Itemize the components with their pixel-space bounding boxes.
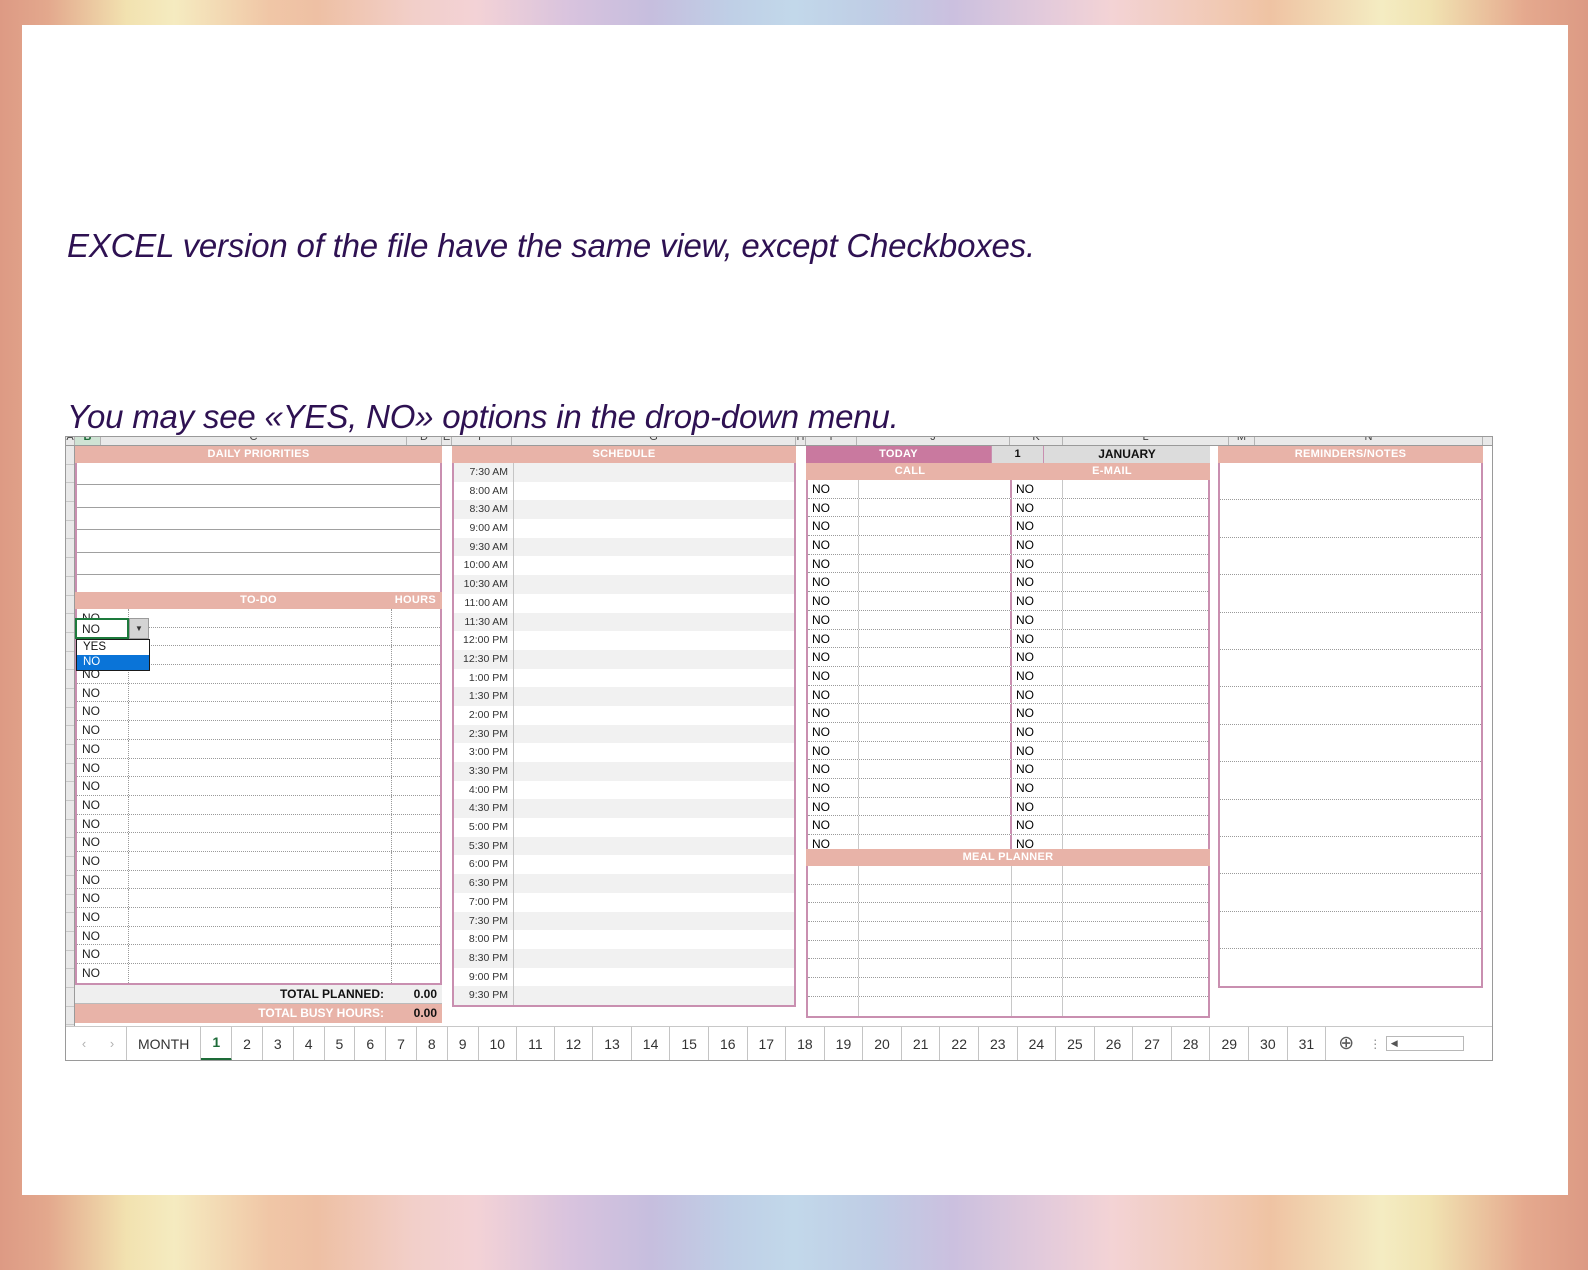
column-header-h[interactable]: H: [796, 437, 806, 445]
meal-planner-cell[interactable]: [808, 959, 859, 977]
todo-checkbox-cell[interactable]: NO: [77, 908, 129, 926]
schedule-entry-cell[interactable]: [514, 463, 794, 482]
today-month[interactable]: JANUARY: [1044, 446, 1210, 463]
meal-planner-cell[interactable]: [808, 903, 859, 921]
meal-planner-cell[interactable]: [808, 922, 859, 940]
todo-row[interactable]: NO: [77, 777, 440, 796]
row-header[interactable]: [66, 745, 74, 764]
schedule-entry-cell[interactable]: [514, 874, 794, 893]
call-email-row[interactable]: NONO: [808, 742, 1208, 761]
daily-priority-row[interactable]: [77, 508, 440, 530]
todo-row[interactable]: NO: [77, 889, 440, 908]
sheet-tab-11[interactable]: 11: [517, 1027, 555, 1061]
todo-hours-cell[interactable]: [392, 945, 440, 963]
schedule-row[interactable]: 12:00 PM: [454, 631, 794, 650]
email-checkbox-cell[interactable]: NO: [1012, 779, 1063, 797]
schedule-row[interactable]: 3:00 PM: [454, 743, 794, 762]
call-text-cell[interactable]: [859, 816, 1012, 834]
todo-checkbox-cell[interactable]: NO: [77, 702, 129, 720]
call-checkbox-cell[interactable]: NO: [808, 536, 859, 554]
scroll-left-icon[interactable]: ◀: [1387, 1038, 1401, 1049]
sheet-tab-24[interactable]: 24: [1018, 1027, 1057, 1061]
row-header[interactable]: [66, 652, 74, 671]
schedule-row[interactable]: 9:00 AM: [454, 519, 794, 538]
call-checkbox-cell[interactable]: NO: [808, 798, 859, 816]
email-checkbox-cell[interactable]: NO: [1012, 686, 1063, 704]
todo-hours-cell[interactable]: [392, 665, 440, 683]
todo-checkbox-cell[interactable]: NO: [77, 740, 129, 758]
todo-row[interactable]: NO: [77, 964, 440, 983]
sheet-tab-27[interactable]: 27: [1133, 1027, 1172, 1061]
sheet-tab-8[interactable]: 8: [417, 1027, 448, 1061]
call-text-cell[interactable]: [859, 667, 1012, 685]
schedule-entry-cell[interactable]: [514, 594, 794, 613]
todo-checkbox-cell[interactable]: NO: [77, 889, 129, 907]
meal-planner-cell[interactable]: [1012, 922, 1063, 940]
meal-planner-row[interactable]: [808, 903, 1208, 922]
schedule-row[interactable]: 1:30 PM: [454, 687, 794, 706]
sheet-tab-31[interactable]: 31: [1288, 1027, 1327, 1061]
row-header[interactable]: [66, 764, 74, 783]
email-checkbox-cell[interactable]: NO: [1012, 480, 1063, 498]
row-header[interactable]: [66, 483, 74, 502]
reminder-row[interactable]: [1220, 837, 1481, 874]
schedule-entry-cell[interactable]: [514, 912, 794, 931]
call-text-cell[interactable]: [859, 573, 1012, 591]
daily-priority-row[interactable]: [77, 485, 440, 507]
call-email-row[interactable]: NONO: [808, 816, 1208, 835]
todo-hours-cell[interactable]: [392, 702, 440, 720]
todo-task-cell[interactable]: [129, 964, 392, 983]
schedule-rows[interactable]: 7:30 AM8:00 AM8:30 AM9:00 AM9:30 AM10:00…: [452, 463, 796, 1007]
meal-planner-cell[interactable]: [1063, 885, 1208, 903]
call-text-cell[interactable]: [859, 592, 1012, 610]
schedule-row[interactable]: 2:30 PM: [454, 725, 794, 744]
todo-task-cell[interactable]: [129, 702, 392, 720]
meal-planner-cell[interactable]: [859, 922, 1012, 940]
schedule-entry-cell[interactable]: [514, 949, 794, 968]
todo-task-cell[interactable]: [129, 927, 392, 945]
todo-hours-cell[interactable]: [392, 927, 440, 945]
row-header[interactable]: [66, 596, 74, 615]
reminder-row[interactable]: [1220, 949, 1481, 986]
column-header-g[interactable]: G: [512, 437, 796, 445]
meal-planner-cell[interactable]: [1063, 903, 1208, 921]
sheet-tab-28[interactable]: 28: [1172, 1027, 1211, 1061]
todo-checkbox-cell[interactable]: NO: [77, 721, 129, 739]
call-text-cell[interactable]: [859, 630, 1012, 648]
meal-planner-row[interactable]: [808, 922, 1208, 941]
meal-planner-cell[interactable]: [1063, 866, 1208, 884]
email-checkbox-cell[interactable]: NO: [1012, 760, 1063, 778]
column-header-k[interactable]: K: [1010, 437, 1063, 445]
schedule-entry-cell[interactable]: [514, 968, 794, 987]
todo-hours-cell[interactable]: [392, 628, 440, 646]
schedule-row[interactable]: 6:30 PM: [454, 874, 794, 893]
row-header[interactable]: [66, 857, 74, 876]
sheet-tab-25[interactable]: 25: [1056, 1027, 1095, 1061]
sheet-tab-13[interactable]: 13: [593, 1027, 632, 1061]
schedule-row[interactable]: 5:30 PM: [454, 837, 794, 856]
row-header[interactable]: [66, 465, 74, 484]
meal-planner-row[interactable]: [808, 959, 1208, 978]
sheet-tab-3[interactable]: 3: [263, 1027, 294, 1061]
meal-planner-row[interactable]: [808, 941, 1208, 960]
meal-planner-cell[interactable]: [808, 885, 859, 903]
row-header[interactable]: [66, 446, 74, 465]
row-header[interactable]: [66, 838, 74, 857]
reminder-row[interactable]: [1220, 725, 1481, 762]
reminder-row[interactable]: [1220, 538, 1481, 575]
sheet-tab-14[interactable]: 14: [632, 1027, 671, 1061]
todo-row[interactable]: NO: [77, 945, 440, 964]
todo-checkbox-cell[interactable]: NO: [77, 852, 129, 870]
email-checkbox-cell[interactable]: NO: [1012, 592, 1063, 610]
todo-hours-cell[interactable]: [392, 721, 440, 739]
schedule-row[interactable]: 11:00 AM: [454, 594, 794, 613]
meal-planner-cell[interactable]: [859, 959, 1012, 977]
reminder-row[interactable]: [1220, 500, 1481, 537]
schedule-entry-cell[interactable]: [514, 650, 794, 669]
column-header-row[interactable]: ABCDEFGHIJKLMN: [66, 437, 1492, 446]
column-header-i[interactable]: I: [806, 437, 857, 445]
sheet-tab-4[interactable]: 4: [294, 1027, 325, 1061]
todo-task-cell[interactable]: [129, 908, 392, 926]
call-checkbox-cell[interactable]: NO: [808, 592, 859, 610]
schedule-entry-cell[interactable]: [514, 482, 794, 501]
schedule-row[interactable]: 8:30 AM: [454, 500, 794, 519]
todo-task-cell[interactable]: [129, 777, 392, 795]
sheet-tab-5[interactable]: 5: [325, 1027, 356, 1061]
sheet-tab-2[interactable]: 2: [232, 1027, 263, 1061]
call-text-cell[interactable]: [859, 723, 1012, 741]
row-header[interactable]: [66, 801, 74, 820]
meal-planner-cell[interactable]: [808, 941, 859, 959]
schedule-entry-cell[interactable]: [514, 613, 794, 632]
reminder-row[interactable]: [1220, 613, 1481, 650]
call-checkbox-cell[interactable]: NO: [808, 723, 859, 741]
schedule-entry-cell[interactable]: [514, 575, 794, 594]
call-email-row[interactable]: NONO: [808, 611, 1208, 630]
dropdown-option-no[interactable]: NO: [77, 655, 149, 670]
call-text-cell[interactable]: [859, 611, 1012, 629]
reminders-rows[interactable]: [1218, 463, 1483, 988]
scrollbar-thumb[interactable]: [1401, 1037, 1463, 1050]
todo-checkbox-cell[interactable]: NO: [77, 964, 129, 983]
sheet-tab-10[interactable]: 10: [479, 1027, 518, 1061]
row-header[interactable]: [66, 951, 74, 970]
meal-planner-cell[interactable]: [808, 997, 859, 1016]
sheet-tab-21[interactable]: 21: [902, 1027, 941, 1061]
todo-task-cell[interactable]: [129, 852, 392, 870]
next-sheet-icon[interactable]: ›: [110, 1036, 114, 1051]
email-checkbox-cell[interactable]: NO: [1012, 517, 1063, 535]
row-header[interactable]: [66, 689, 74, 708]
schedule-entry-cell[interactable]: [514, 781, 794, 800]
call-email-row[interactable]: NONO: [808, 592, 1208, 611]
daily-priorities-rows[interactable]: [75, 463, 442, 599]
todo-checkbox-cell[interactable]: NO: [77, 871, 129, 889]
email-checkbox-cell[interactable]: NO: [1012, 611, 1063, 629]
call-email-row[interactable]: NONO: [808, 555, 1208, 574]
todo-task-cell[interactable]: [129, 815, 392, 833]
row-header[interactable]: [66, 633, 74, 652]
column-header-d[interactable]: D: [407, 437, 442, 445]
reminder-row[interactable]: [1220, 463, 1481, 500]
call-checkbox-cell[interactable]: NO: [808, 611, 859, 629]
schedule-row[interactable]: 8:30 PM: [454, 949, 794, 968]
call-email-row[interactable]: NONO: [808, 760, 1208, 779]
meal-planner-cell[interactable]: [859, 903, 1012, 921]
schedule-row[interactable]: 1:00 PM: [454, 669, 794, 688]
todo-task-cell[interactable]: [129, 721, 392, 739]
meal-planner-cell[interactable]: [859, 978, 1012, 996]
meal-planner-cell[interactable]: [1012, 885, 1063, 903]
reminder-row[interactable]: [1220, 650, 1481, 687]
call-text-cell[interactable]: [859, 779, 1012, 797]
email-checkbox-cell[interactable]: NO: [1012, 536, 1063, 554]
email-checkbox-cell[interactable]: NO: [1012, 816, 1063, 834]
call-checkbox-cell[interactable]: NO: [808, 779, 859, 797]
todo-checkbox-cell[interactable]: NO: [77, 759, 129, 777]
todo-task-cell[interactable]: [129, 646, 392, 664]
schedule-entry-cell[interactable]: [514, 837, 794, 856]
todo-task-cell[interactable]: [129, 684, 392, 702]
email-checkbox-cell[interactable]: NO: [1012, 499, 1063, 517]
schedule-entry-cell[interactable]: [514, 893, 794, 912]
todo-task-cell[interactable]: [129, 871, 392, 889]
row-header[interactable]: [66, 670, 74, 689]
todo-row[interactable]: NO: [77, 815, 440, 834]
horizontal-scrollbar[interactable]: ◀: [1386, 1036, 1464, 1051]
schedule-entry-cell[interactable]: [514, 986, 794, 1005]
sheet-tab-7[interactable]: 7: [386, 1027, 417, 1061]
email-checkbox-cell[interactable]: NO: [1012, 742, 1063, 760]
todo-hours-cell[interactable]: [392, 889, 440, 907]
sheet-tab-30[interactable]: 30: [1249, 1027, 1288, 1061]
todo-task-cell[interactable]: [129, 945, 392, 963]
row-header[interactable]: [66, 988, 74, 1007]
todo-hours-cell[interactable]: [392, 964, 440, 983]
schedule-entry-cell[interactable]: [514, 519, 794, 538]
more-options-icon[interactable]: ⋮: [1366, 1037, 1384, 1051]
row-header[interactable]: [66, 539, 74, 558]
reminder-row[interactable]: [1220, 912, 1481, 949]
todo-checkbox-cell[interactable]: NO: [77, 796, 129, 814]
meal-planner-cell[interactable]: [1012, 959, 1063, 977]
schedule-row[interactable]: 9:30 PM: [454, 986, 794, 1005]
call-checkbox-cell[interactable]: NO: [808, 648, 859, 666]
today-day-number[interactable]: 1: [991, 446, 1044, 463]
email-text-cell[interactable]: [1063, 742, 1208, 760]
meal-planner-row[interactable]: [808, 866, 1208, 885]
meal-planner-cell[interactable]: [1063, 978, 1208, 996]
sheet-tab-12[interactable]: 12: [555, 1027, 594, 1061]
call-email-row[interactable]: NONO: [808, 704, 1208, 723]
email-text-cell[interactable]: [1063, 667, 1208, 685]
call-checkbox-cell[interactable]: NO: [808, 816, 859, 834]
sheet-tab-26[interactable]: 26: [1095, 1027, 1134, 1061]
add-sheet-icon[interactable]: ⊕: [1326, 1032, 1366, 1055]
reminder-row[interactable]: [1220, 762, 1481, 799]
schedule-row[interactable]: 8:00 AM: [454, 482, 794, 501]
email-checkbox-cell[interactable]: NO: [1012, 555, 1063, 573]
schedule-row[interactable]: 10:00 AM: [454, 556, 794, 575]
todo-checkbox-cell-selected[interactable]: NO: [75, 618, 129, 639]
meal-planner-cell[interactable]: [859, 885, 1012, 903]
column-header-m[interactable]: M: [1229, 437, 1255, 445]
email-text-cell[interactable]: [1063, 536, 1208, 554]
call-email-row[interactable]: NONO: [808, 686, 1208, 705]
email-text-cell[interactable]: [1063, 480, 1208, 498]
call-text-cell[interactable]: [859, 760, 1012, 778]
todo-hours-cell[interactable]: [392, 646, 440, 664]
schedule-row[interactable]: 4:00 PM: [454, 781, 794, 800]
call-text-cell[interactable]: [859, 742, 1012, 760]
call-checkbox-cell[interactable]: NO: [808, 742, 859, 760]
call-text-cell[interactable]: [859, 517, 1012, 535]
row-header[interactable]: [66, 913, 74, 932]
meal-planner-cell[interactable]: [859, 866, 1012, 884]
schedule-row[interactable]: 7:00 PM: [454, 893, 794, 912]
todo-hours-cell[interactable]: [392, 908, 440, 926]
row-header[interactable]: [66, 577, 74, 596]
email-text-cell[interactable]: [1063, 704, 1208, 722]
email-text-cell[interactable]: [1063, 779, 1208, 797]
column-header-j[interactable]: J: [857, 437, 1010, 445]
todo-checkbox-cell[interactable]: NO: [77, 684, 129, 702]
email-text-cell[interactable]: [1063, 686, 1208, 704]
email-checkbox-cell[interactable]: NO: [1012, 704, 1063, 722]
call-checkbox-cell[interactable]: NO: [808, 704, 859, 722]
schedule-entry-cell[interactable]: [514, 556, 794, 575]
call-text-cell[interactable]: [859, 648, 1012, 666]
sheet-tab-23[interactable]: 23: [979, 1027, 1018, 1061]
email-checkbox-cell[interactable]: NO: [1012, 630, 1063, 648]
email-checkbox-cell[interactable]: NO: [1012, 723, 1063, 741]
meal-planner-cell[interactable]: [1063, 941, 1208, 959]
column-header-l[interactable]: L: [1063, 437, 1229, 445]
todo-row[interactable]: NO: [77, 740, 440, 759]
email-checkbox-cell[interactable]: NO: [1012, 667, 1063, 685]
schedule-row[interactable]: 9:30 AM: [454, 538, 794, 557]
column-header-f[interactable]: F: [452, 437, 512, 445]
call-checkbox-cell[interactable]: NO: [808, 499, 859, 517]
meal-planner-cell[interactable]: [859, 997, 1012, 1016]
call-checkbox-cell[interactable]: NO: [808, 667, 859, 685]
meal-planner-cell[interactable]: [1012, 941, 1063, 959]
meal-planner-rows[interactable]: [806, 866, 1210, 1018]
sheet-tab-6[interactable]: 6: [355, 1027, 386, 1061]
schedule-entry-cell[interactable]: [514, 500, 794, 519]
meal-planner-cell[interactable]: [808, 866, 859, 884]
todo-hours-cell[interactable]: [392, 833, 440, 851]
call-email-row[interactable]: NONO: [808, 536, 1208, 555]
email-text-cell[interactable]: [1063, 611, 1208, 629]
call-checkbox-cell[interactable]: NO: [808, 630, 859, 648]
meal-planner-row[interactable]: [808, 978, 1208, 997]
daily-priority-row[interactable]: [77, 553, 440, 575]
reminder-row[interactable]: [1220, 874, 1481, 911]
todo-task-cell[interactable]: [129, 889, 392, 907]
call-text-cell[interactable]: [859, 499, 1012, 517]
reminder-row[interactable]: [1220, 575, 1481, 612]
meal-planner-cell[interactable]: [1012, 978, 1063, 996]
schedule-entry-cell[interactable]: [514, 743, 794, 762]
schedule-entry-cell[interactable]: [514, 669, 794, 688]
row-header[interactable]: [66, 502, 74, 521]
email-checkbox-cell[interactable]: NO: [1012, 648, 1063, 666]
schedule-row[interactable]: 8:00 PM: [454, 930, 794, 949]
call-checkbox-cell[interactable]: NO: [808, 573, 859, 591]
schedule-entry-cell[interactable]: [514, 706, 794, 725]
call-checkbox-cell[interactable]: NO: [808, 686, 859, 704]
row-header[interactable]: [66, 895, 74, 914]
dropdown-option-list[interactable]: YESNO: [76, 639, 150, 671]
dropdown-option-yes[interactable]: YES: [77, 640, 149, 655]
call-email-row[interactable]: NONO: [808, 648, 1208, 667]
call-text-cell[interactable]: [859, 704, 1012, 722]
email-text-cell[interactable]: [1063, 648, 1208, 666]
row-header[interactable]: [66, 726, 74, 745]
call-email-row[interactable]: NONO: [808, 798, 1208, 817]
schedule-row[interactable]: 7:30 AM: [454, 463, 794, 482]
meal-planner-cell[interactable]: [1063, 959, 1208, 977]
todo-hours-cell[interactable]: [392, 684, 440, 702]
reminder-row[interactable]: [1220, 800, 1481, 837]
todo-checkbox-cell[interactable]: NO: [77, 833, 129, 851]
email-text-cell[interactable]: [1063, 798, 1208, 816]
column-header-c[interactable]: C: [101, 437, 407, 445]
sheet-tab-29[interactable]: 29: [1210, 1027, 1249, 1061]
schedule-entry-cell[interactable]: [514, 725, 794, 744]
schedule-row[interactable]: 7:30 PM: [454, 912, 794, 931]
todo-row[interactable]: NO: [77, 908, 440, 927]
row-header[interactable]: [66, 708, 74, 727]
call-checkbox-cell[interactable]: NO: [808, 517, 859, 535]
email-text-cell[interactable]: [1063, 630, 1208, 648]
email-text-cell[interactable]: [1063, 555, 1208, 573]
meal-planner-cell[interactable]: [808, 978, 859, 996]
call-email-row[interactable]: NONO: [808, 630, 1208, 649]
schedule-row[interactable]: 12:30 PM: [454, 650, 794, 669]
schedule-row[interactable]: 11:30 AM: [454, 613, 794, 632]
row-header[interactable]: [66, 932, 74, 951]
email-checkbox-cell[interactable]: NO: [1012, 573, 1063, 591]
schedule-row[interactable]: 3:30 PM: [454, 762, 794, 781]
schedule-entry-cell[interactable]: [514, 631, 794, 650]
sheet-tab-17[interactable]: 17: [748, 1027, 787, 1061]
meal-planner-row[interactable]: [808, 997, 1208, 1016]
todo-checkbox-cell[interactable]: NO: [77, 927, 129, 945]
todo-checkbox-cell[interactable]: NO: [77, 945, 129, 963]
email-text-cell[interactable]: [1063, 760, 1208, 778]
sheet-tab-19[interactable]: 19: [825, 1027, 864, 1061]
sheet-tab-22[interactable]: 22: [940, 1027, 979, 1061]
sheet-tab-month[interactable]: MONTH: [126, 1027, 201, 1061]
call-checkbox-cell[interactable]: NO: [808, 480, 859, 498]
todo-task-cell[interactable]: [129, 740, 392, 758]
todo-row[interactable]: NO: [77, 759, 440, 778]
row-header[interactable]: [66, 1007, 74, 1026]
schedule-entry-cell[interactable]: [514, 818, 794, 837]
schedule-entry-cell[interactable]: [514, 799, 794, 818]
meal-planner-cell[interactable]: [1063, 922, 1208, 940]
call-text-cell[interactable]: [859, 798, 1012, 816]
todo-row[interactable]: NO: [77, 927, 440, 946]
sheet-nav-arrows[interactable]: ‹ ›: [66, 1036, 126, 1051]
sheet-tab-16[interactable]: 16: [709, 1027, 748, 1061]
